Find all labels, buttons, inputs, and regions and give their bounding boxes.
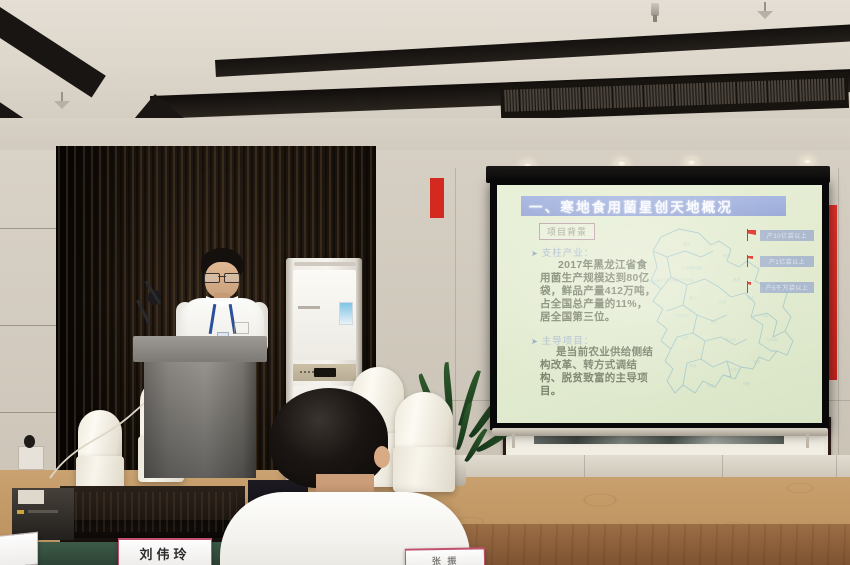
svg-text:嫩江: 嫩江 [689,295,697,300]
energy-label-sticker [339,302,353,325]
svg-text:绥化: 绥化 [711,319,719,324]
nameplate-liu-weiling: 刘伟玲 [118,538,212,565]
legend-text-2: 产1亿袋以上 [769,257,805,266]
slide-title-bar: 一、寒地食用菌星创天地概况 [521,196,786,216]
svg-text:肇源: 肇源 [689,363,697,368]
svg-text:尚志: 尚志 [707,383,715,388]
sprinkler-icon [649,3,661,23]
wall-seam [838,168,839,468]
ceiling-hanger [54,92,70,110]
svg-text:哈尔滨: 哈尔滨 [725,337,736,342]
screen-leg [512,434,515,448]
flag-large-icon [744,229,756,241]
presentation-slide: 一、寒地食用菌星创天地概况 项目背景 [497,185,822,423]
slide-bullet-1: 支柱产业： [531,245,594,259]
svg-text:牡丹江: 牡丹江 [729,367,740,372]
audience-member [228,388,458,565]
audience-hair [270,388,388,488]
svg-text:逊克: 逊克 [747,295,755,300]
legend-row-3: 产5千万袋以上 [744,281,814,293]
nameplate-text-1: 刘伟玲 [139,544,190,563]
svg-text:黑龙江省食用菌产业分布图: 黑龙江省食用菌产业分布图 [657,277,693,282]
svg-text:鸡西: 鸡西 [753,359,761,364]
slide-paragraph-2: 是当前农业供给侧结构改革、转方式调结构、脱贫致富的主导项目。 [540,346,658,398]
downlight [802,158,813,165]
ceiling-hanger [757,2,773,20]
ac-display [314,368,336,377]
svg-text:佳木斯: 佳木斯 [767,337,778,342]
svg-text:大兴安岭地区: 大兴安岭地区 [681,265,703,270]
red-accent-strip [430,178,444,218]
legend-text-1: 产10亿袋以上 [767,231,807,240]
screen-leg [806,434,809,448]
nameplate-text-2: 张 振 [432,553,459,565]
svg-text:穆棱: 穆棱 [743,381,751,386]
svg-text:黑河: 黑河 [733,277,741,282]
svg-text:齐齐哈尔: 齐齐哈尔 [675,313,690,318]
audio-amplifier [12,488,74,540]
slide-title-text: 一、寒地食用菌星创天地概况 [521,196,733,216]
legend-text-3: 产5千万袋以上 [766,283,809,292]
slide-bullet-2: 主导项目： [531,333,594,347]
equipment-rack [60,486,245,544]
nameplate-secondary: 张 振 [405,547,485,565]
svg-text:塔河: 塔河 [723,253,731,258]
flag-medium-icon [744,255,756,267]
svg-text:大庆: 大庆 [681,335,689,340]
svg-text:孙吴: 孙吴 [719,299,727,304]
ceiling-ac-grille [500,72,849,120]
ceiling-beam [0,0,106,98]
svg-text:伊春: 伊春 [761,313,769,318]
conference-room-photo: 一、寒地食用菌星创天地概况 项目背景 [0,0,850,565]
downlight [686,159,697,166]
nameplate-blank [0,532,38,565]
svg-text:漠河: 漠河 [683,241,691,246]
projection-screen-bottom-bar [492,428,828,436]
slide-tag-box: 项目背景 [539,223,595,240]
legend-row-2: 产1亿袋以上 [744,255,814,267]
ceiling-beam [215,23,850,77]
glasses-icon [204,273,240,281]
slide-paragraph-1: 2017年黑龙江省食用菌生产规模达到80亿袋，鲜品产量412万吨，占全国总产量的… [540,259,658,324]
flag-small-icon [744,281,756,293]
legend-row-1: 产10亿袋以上 [744,229,814,241]
